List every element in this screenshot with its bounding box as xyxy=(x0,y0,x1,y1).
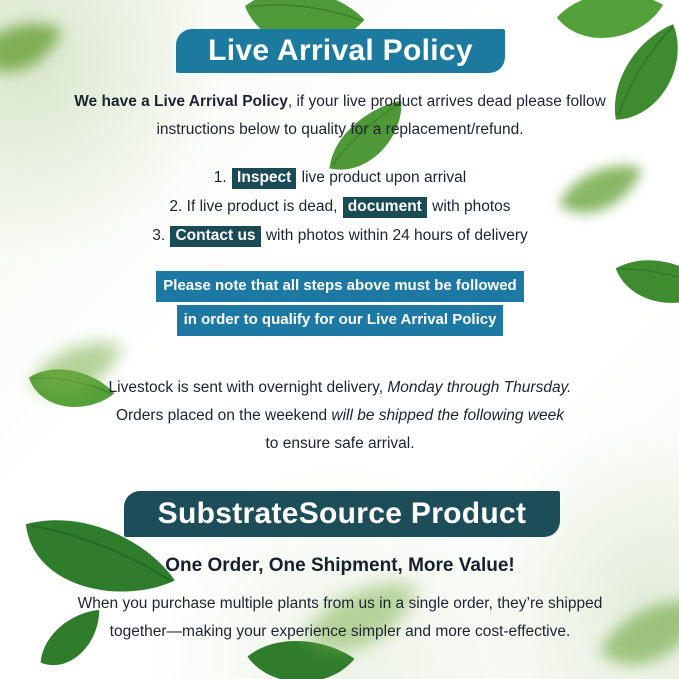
intro-line-1: We have a Live Arrival Policy, if your l… xyxy=(60,88,620,116)
step-item-3: 3. Contact us with photos within 24 hour… xyxy=(60,221,620,250)
substratesource-product-banner: SubstrateSource Product xyxy=(124,491,560,537)
livestock-line-2-italic: will be shipped the following week xyxy=(331,407,564,424)
step-1-chip: Inspect xyxy=(232,168,296,189)
steps-list: 1. Inspect live product upon arrival 2. … xyxy=(60,163,620,250)
step-3-after: with photos within 24 hours of delivery xyxy=(266,227,528,244)
livestock-line-1-italic: Monday through Thursday. xyxy=(387,379,571,396)
step-3-number: 3. xyxy=(152,227,165,244)
bundling-paragraph: When you purchase multiple plants from u… xyxy=(50,590,630,646)
value-subheading: One Order, One Shipment, More Value! xyxy=(60,555,620,577)
livestock-line-1-a: Livestock is sent with overnight deliver… xyxy=(109,379,384,396)
livestock-line-2-a: Orders placed on the weekend xyxy=(116,407,327,424)
live-arrival-policy-banner: Live Arrival Policy xyxy=(176,29,505,73)
intro-line-1-rest: , if your live product arrives dead plea… xyxy=(288,93,606,110)
intro-lead-bold: We have a Live Arrival Policy xyxy=(74,93,288,110)
policy-note-row-2: in order to qualify for our Live Arrival… xyxy=(60,305,620,336)
live-arrival-policy-graphic: Live Arrival Policy We have a Live Arriv… xyxy=(0,0,679,679)
policy-note-line-1: Please note that all steps above must be… xyxy=(156,271,523,302)
step-2-after: with photos xyxy=(432,198,510,215)
step-2-chip: document xyxy=(343,197,427,218)
step-1-after: live product upon arrival xyxy=(302,169,467,186)
live-arrival-policy-banner-label: Live Arrival Policy xyxy=(208,34,473,68)
substratesource-product-banner-label: SubstrateSource Product xyxy=(158,497,527,531)
policy-note-line-2: in order to qualify for our Live Arrival… xyxy=(177,305,504,336)
step-3-chip: Contact us xyxy=(170,226,260,247)
bundling-line-2: together—making your experience simpler … xyxy=(50,618,630,646)
intro-line-2: instructions below to quality for a repl… xyxy=(60,116,620,144)
bundling-line-1: When you purchase multiple plants from u… xyxy=(50,590,630,618)
livestock-shipping-paragraph: Livestock is sent with overnight deliver… xyxy=(60,374,620,458)
step-2-number: 2. xyxy=(169,198,182,215)
livestock-line-1: Livestock is sent with overnight deliver… xyxy=(60,374,620,402)
livestock-line-3: to ensure safe arrival. xyxy=(60,430,620,458)
step-1-number: 1. xyxy=(214,169,227,186)
step-item-2: 2. If live product is dead, document wit… xyxy=(60,192,620,221)
livestock-line-2: Orders placed on the weekend will be shi… xyxy=(60,402,620,430)
policy-note-row-1: Please note that all steps above must be… xyxy=(60,271,620,302)
step-item-1: 1. Inspect live product upon arrival xyxy=(60,163,620,192)
policy-note: Please note that all steps above must be… xyxy=(60,271,620,339)
intro-paragraph: We have a Live Arrival Policy, if your l… xyxy=(60,88,620,144)
step-2-before: If live product is dead, xyxy=(187,198,338,215)
